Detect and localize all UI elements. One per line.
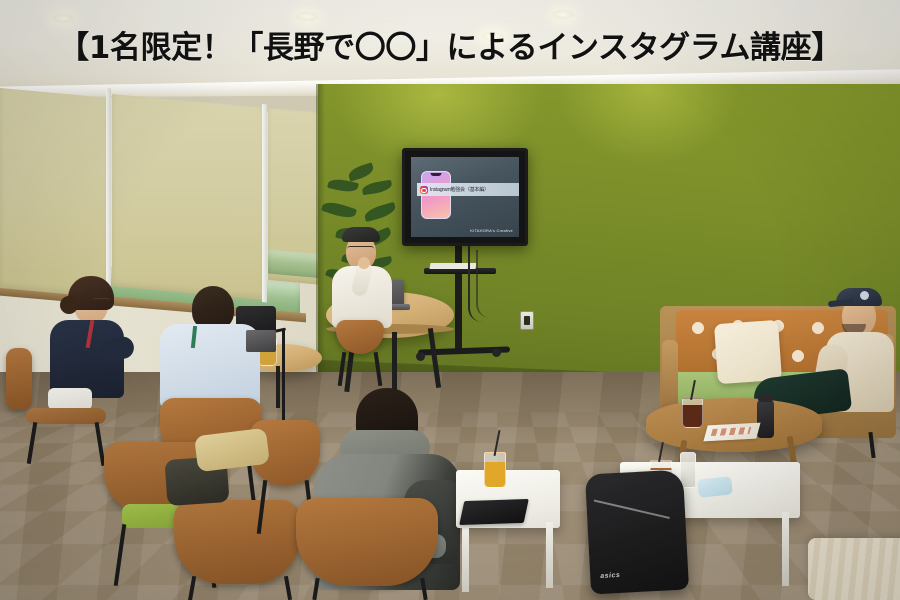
glasses — [92, 298, 110, 306]
sofa-arm-left — [662, 340, 678, 412]
face-mask — [697, 476, 733, 497]
photo-scene: Instagram勉強会（基本編） KITAHORA's Creative — [0, 0, 900, 600]
page-title: 【1名限定！「長野で〇〇」によるインスタグラム講座】 — [58, 22, 842, 67]
bag-stripe — [594, 499, 670, 518]
tv-screen: Instagram勉強会（基本編） KITAHORA's Creative — [411, 157, 519, 237]
instagram-icon — [420, 186, 428, 194]
phone-notch — [431, 173, 442, 176]
participant-laptop — [246, 330, 276, 352]
participant-sofa — [820, 282, 900, 452]
chair-backrest — [296, 498, 438, 586]
headline-banner: 【1名限定！「長野で〇〇」によるインスタグラム講座】 — [0, 0, 900, 88]
chair-leg — [27, 422, 38, 464]
torso-blue-shirt — [160, 324, 260, 408]
slide-title-bar: Instagram勉強会（基本編） — [417, 183, 519, 196]
chair-leg — [188, 576, 196, 600]
side-table-leg — [462, 524, 469, 592]
tv-stand-caster — [492, 348, 501, 357]
power-cable — [476, 250, 524, 318]
throw-cushion — [714, 320, 782, 384]
roller-blind — [0, 88, 108, 298]
window-mullion — [262, 104, 267, 302]
table-leg — [276, 366, 280, 408]
roller-blind — [112, 94, 264, 300]
chair-backrest — [336, 320, 384, 354]
water-bottle — [757, 400, 774, 438]
bag-logo-text: asics — [600, 572, 620, 580]
chair-foreground — [296, 498, 446, 600]
slide-credit: KITAHORA's Creative — [470, 228, 513, 233]
side-table-leg — [782, 512, 789, 586]
tv-stand-caster — [416, 352, 425, 361]
sports-bag: asics — [585, 470, 689, 595]
presentation-tv: Instagram勉強会（基本編） KITAHORA's Creative — [402, 148, 528, 246]
table-leg — [392, 332, 397, 390]
tv-stand-pole — [455, 238, 462, 350]
bottle-cap — [758, 394, 773, 402]
chair-leg — [312, 578, 319, 600]
hair-bun — [60, 296, 78, 314]
bench-cushion — [808, 538, 900, 600]
orange-iced-drink — [484, 452, 506, 488]
chair-leg — [257, 480, 268, 534]
chair-backrest — [6, 348, 32, 410]
presenter-chair — [332, 320, 388, 380]
cap — [342, 227, 380, 242]
chair-left-1 — [22, 330, 116, 460]
presenter — [330, 224, 394, 334]
side-table-leg — [546, 522, 553, 588]
window-mullion — [106, 88, 111, 304]
glasses — [347, 246, 374, 254]
chair-leg — [420, 578, 427, 600]
iced-coffee-cup — [682, 398, 703, 428]
chair-leg — [114, 524, 127, 586]
hand — [358, 257, 370, 269]
slide-title: Instagram勉強会（基本編） — [430, 186, 489, 193]
black-notebook — [459, 499, 529, 525]
cap-logo — [860, 291, 869, 300]
chair-leg — [284, 576, 292, 600]
plastic-water-bottle — [680, 452, 696, 488]
screenshot-root: Instagram勉強会（基本編） KITAHORA's Creative — [0, 0, 900, 600]
